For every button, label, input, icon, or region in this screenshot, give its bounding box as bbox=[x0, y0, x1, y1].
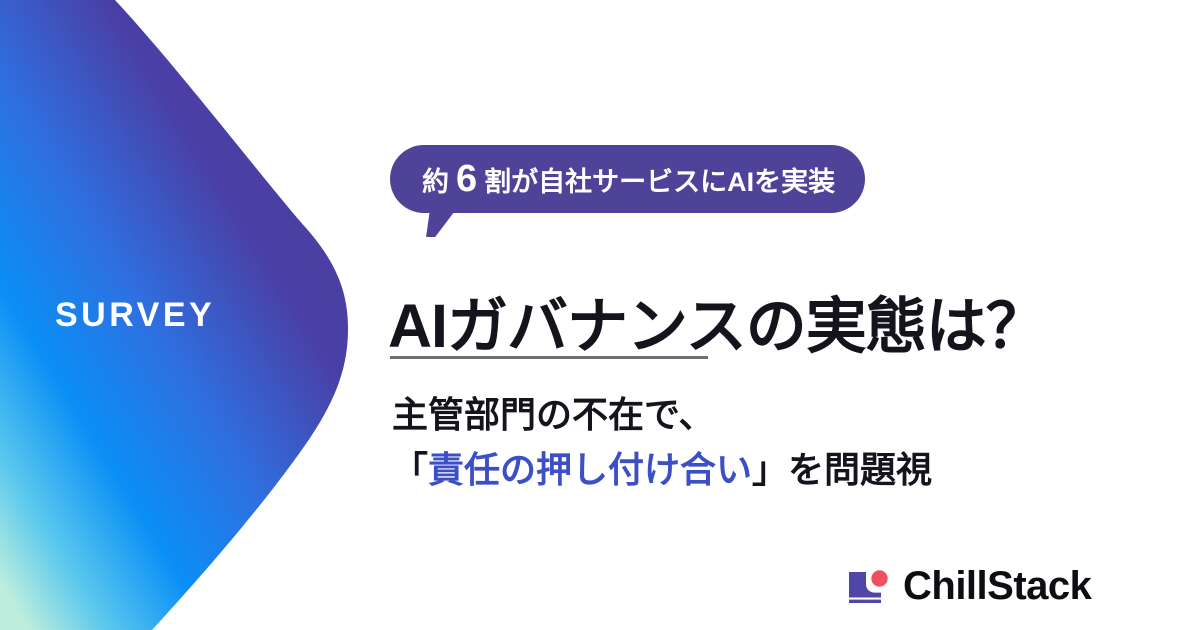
subtitle-line-2: 「責任の押し付け合い」を問題視 bbox=[392, 443, 932, 498]
chillstack-mark-icon bbox=[848, 566, 890, 606]
subtitle-highlight: 責任の押し付け合い bbox=[428, 449, 752, 490]
subtitle-quote-close: 」 bbox=[752, 449, 788, 490]
subtitle-quote-open: 「 bbox=[392, 449, 428, 490]
page-title: AIガバナンスの実態は？ bbox=[388, 293, 1046, 360]
speech-bubble-callout: 約 6 割が自社サービスにAIを実装 bbox=[390, 145, 865, 213]
speech-bubble-text: 約 6 割が自社サービスにAIを実装 bbox=[422, 160, 835, 198]
bubble-prefix: 約 bbox=[422, 169, 449, 196]
bubble-suffix: 割が自社サービスにAIを実装 bbox=[484, 169, 835, 196]
survey-key-visual: SURVEY 約 6 割が自社サービスにAIを実装 AIガバナンスの実態は？ 主… bbox=[0, 0, 1200, 630]
subtitle-tail: を問題視 bbox=[788, 449, 932, 490]
speech-bubble-tail-icon bbox=[426, 211, 455, 237]
brand-name: ChillStack bbox=[903, 566, 1091, 606]
subtitle: 主管部門の不在で、 「責任の押し付け合い」を問題視 bbox=[392, 388, 932, 497]
divider bbox=[390, 356, 708, 359]
bubble-number: 6 bbox=[449, 160, 484, 198]
survey-badge-label: SURVEY bbox=[55, 298, 215, 332]
brand-logo: ChillStack bbox=[848, 566, 1091, 606]
subtitle-line-1: 主管部門の不在で、 bbox=[392, 388, 932, 443]
